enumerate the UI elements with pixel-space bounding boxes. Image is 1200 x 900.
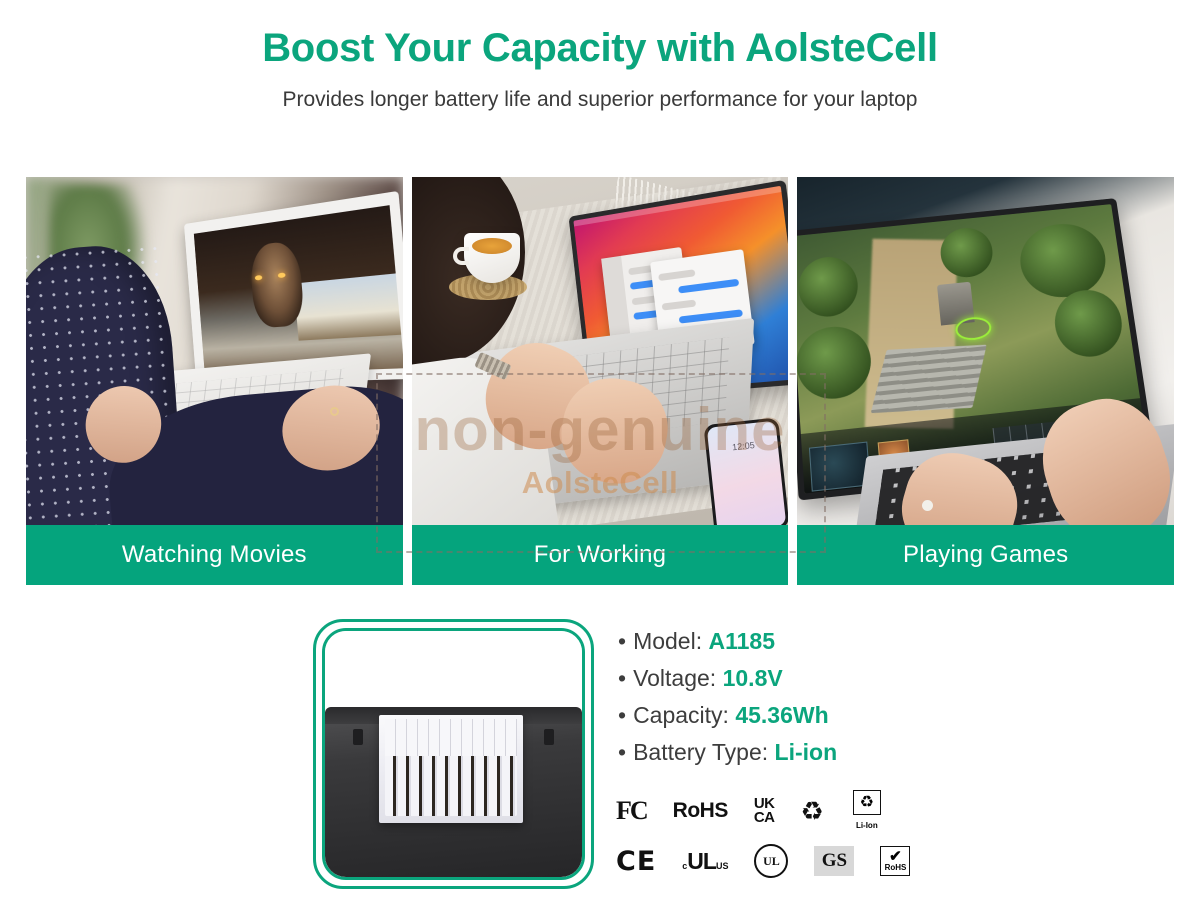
bullet-icon: • [618,665,626,691]
certification-row-2: CE c UL US UL GS ✔ RoHS [616,840,936,882]
rohs-check-icon: ✔ RoHS [880,846,912,876]
battery-image-frame [313,619,594,889]
spec-value-model: A1185 [709,628,776,654]
cul-suffix: US [716,861,729,871]
ce-icon: CE [616,846,656,877]
liion-recycle-icon: ♻ Li-Ion [850,790,884,833]
spec-value-capacity: 45.36Wh [735,702,828,728]
spec-label-model: Model: [633,628,702,654]
recycle-icon: ♻ [801,798,824,824]
certification-logos: FC RoHS UK CA ♻ ♻ Li-Ion CE c UL US UL G [616,790,936,882]
panel-caption-for-working: For Working [412,525,789,585]
photo-watching-movies [26,177,403,525]
bullet-icon: • [618,739,626,765]
spec-row-model: •Model: A1185 [618,630,948,653]
photo-for-working: 12:05 [412,177,789,525]
rohs-icon: RoHS [673,799,728,823]
panel-caption-playing-games: Playing Games [797,525,1174,585]
panel-for-working: 12:05 For Working [412,177,789,585]
photo-playing-games [797,177,1174,525]
bullet-icon: • [618,702,626,728]
product-details-section: •Model: A1185 •Voltage: 10.8V •Capacity:… [0,608,1200,900]
spec-list: •Model: A1185 •Voltage: 10.8V •Capacity:… [618,630,948,778]
page-subtitle: Provides longer battery life and superio… [0,88,1200,112]
page-header: Boost Your Capacity with AolsteCell Prov… [0,0,1200,112]
rohs-checkmark: ✔ [889,851,902,863]
spec-row-capacity: •Capacity: 45.36Wh [618,704,948,727]
rohs-check-label: RoHS [885,863,907,872]
fcc-icon: FC [616,796,647,826]
liion-recycle-symbol: ♻ [853,790,881,815]
spec-label-capacity: Capacity: [633,702,729,728]
panel-caption-watching-movies: Watching Movies [26,525,403,585]
page-title: Boost Your Capacity with AolsteCell [0,26,1200,70]
spec-row-voltage: •Voltage: 10.8V [618,667,948,690]
spec-value-voltage: 10.8V [723,665,783,691]
spec-row-battery-type: •Battery Type: Li-ion [618,741,948,764]
ukca-icon: UK CA [754,797,775,825]
ul-icon: UL [754,844,788,878]
bullet-icon: • [618,628,626,654]
panel-playing-games: Playing Games [797,177,1174,585]
liion-recycle-label: Li-Ion [856,821,878,830]
panel-watching-movies: Watching Movies [26,177,403,585]
certification-row-1: FC RoHS UK CA ♻ ♻ Li-Ion [616,790,936,832]
cul-mid: UL [687,848,716,875]
spec-value-battery-type: Li-ion [775,739,838,765]
gs-icon: GS [814,846,854,876]
battery-image [322,628,585,880]
cul-us-icon: c UL US [682,848,728,875]
spec-label-battery-type: Battery Type: [633,739,768,765]
spec-label-voltage: Voltage: [633,665,716,691]
ukca-line2: CA [754,811,775,825]
use-case-panels: Watching Movies [26,177,1174,585]
